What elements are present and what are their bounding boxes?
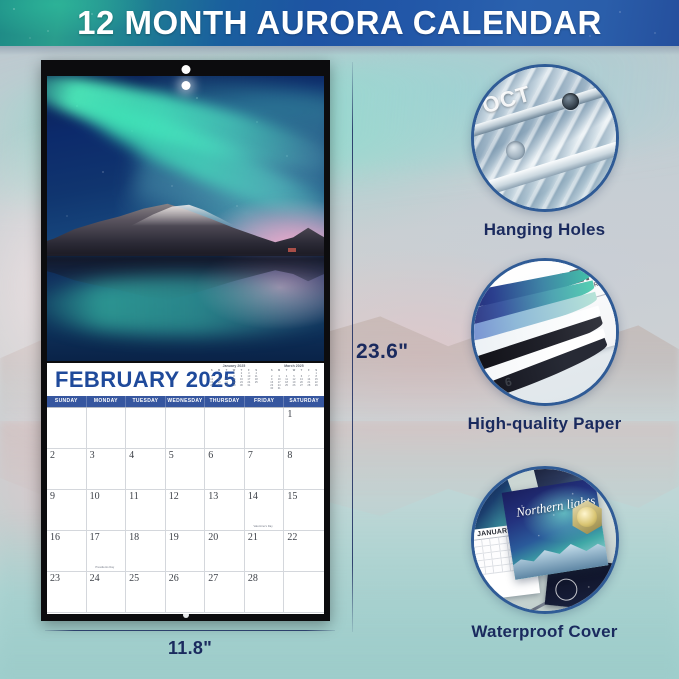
feature-callout-waterproof-cover: JANUARY 2025 Northern lights Waterproof … xyxy=(415,466,674,642)
day-number: 28 xyxy=(248,573,258,584)
calendar-day-cell[interactable]: 8 xyxy=(284,449,324,490)
day-number: 9 xyxy=(50,491,55,502)
day-number: 18 xyxy=(129,532,139,543)
page-title: 12 MONTH AURORA CALENDAR xyxy=(0,0,679,46)
calendar-day-cell[interactable]: 13 xyxy=(205,490,245,531)
calendar-day-cell[interactable]: 3 xyxy=(87,449,127,490)
calendar-day-cell[interactable]: 23 xyxy=(47,572,87,613)
mini-calendar-cell: 31 xyxy=(275,387,282,390)
photo-moon xyxy=(181,81,190,90)
day-number: 11 xyxy=(129,491,139,502)
calendar-day-cell[interactable]: 20 xyxy=(205,531,245,572)
day-number: 17 xyxy=(90,532,100,543)
day-number: 19 xyxy=(169,532,179,543)
punched-hole-dark-icon xyxy=(562,93,579,110)
day-number: 4 xyxy=(129,450,134,461)
weekday-header-monday: MONDAY xyxy=(87,396,127,407)
calendar-day-cell[interactable]: 24 xyxy=(87,572,127,613)
calendar-day-cell[interactable]: 27 xyxy=(205,572,245,613)
feature-image-paper: OCTOBER 2024 TUEWEDTHUFRISAT 6 xyxy=(471,258,619,406)
calendar-day-cell[interactable]: 21 xyxy=(245,531,285,572)
calendar-day-cell[interactable]: 10 xyxy=(87,490,127,531)
width-dimension-line xyxy=(45,630,335,631)
calendar-day-cell[interactable]: 28 xyxy=(245,572,285,613)
day-number: 26 xyxy=(169,573,179,584)
height-dimension-line xyxy=(352,62,353,632)
mini-calendar-cell: 30 xyxy=(268,387,275,390)
mini-calendar-cell xyxy=(298,387,305,390)
mini-calendar-cell: 27 xyxy=(215,384,222,387)
width-dimension-label: 11.8" xyxy=(45,638,335,659)
weekday-header-friday: FRIDAY xyxy=(245,396,285,407)
feature-image-hanging-holes: OCT xyxy=(471,64,619,212)
calendar-day-cell[interactable]: 6 xyxy=(205,449,245,490)
feature-label: Hanging Holes xyxy=(415,220,674,240)
weekday-header-sunday: SUNDAY xyxy=(47,396,87,407)
mini-calendar-cell xyxy=(313,387,320,390)
calendar-day-cell[interactable]: 16 xyxy=(47,531,87,572)
calendar-day-cell[interactable]: 7 xyxy=(245,449,285,490)
day-number: 23 xyxy=(50,573,60,584)
day-number: 12 xyxy=(169,491,179,502)
feature-callout-high-quality-paper: OCTOBER 2024 TUEWEDTHUFRISAT 6 High-qual… xyxy=(415,258,674,434)
calendar-day-cell[interactable]: 4 xyxy=(126,449,166,490)
calendar-day-cell[interactable]: 18 xyxy=(126,531,166,572)
calendar-day-cell[interactable] xyxy=(47,408,87,449)
header-fade-divider xyxy=(0,46,679,55)
mini-calendar-cell: 30 xyxy=(238,384,245,387)
mini-calendar-cell: 28 xyxy=(223,384,230,387)
feature-callout-hanging-holes: OCT Hanging Holes xyxy=(415,64,674,240)
day-number: 7 xyxy=(248,450,253,461)
mini-calendar-cell xyxy=(305,387,312,390)
mini-calendar-grid: SMTWTFS123456789101112131415161718192021… xyxy=(268,369,320,391)
cover-ring-shape xyxy=(555,577,579,601)
calendar-day-cell[interactable]: 22 xyxy=(284,531,324,572)
hanging-hole-icon xyxy=(181,65,190,74)
calendar-day-cell[interactable]: 1 xyxy=(284,408,324,449)
calendar-day-cell[interactable] xyxy=(166,408,206,449)
calendar-day-cell[interactable] xyxy=(284,572,324,613)
day-note: Valentine's Day xyxy=(245,525,282,528)
day-number: 14 xyxy=(248,491,258,502)
day-number: 6 xyxy=(208,450,213,461)
calendar-product: FEBRUARY 2025 January 2025SMTWTFS1234567… xyxy=(41,60,330,621)
calendar-day-cell[interactable]: 19 xyxy=(166,531,206,572)
calendar-day-cell[interactable]: 15 xyxy=(284,490,324,531)
calendar-day-cell[interactable]: 14Valentine's Day xyxy=(245,490,285,531)
mini-calendar-grid: SMTWTFS123456789101112131415161718192021… xyxy=(208,369,260,388)
punched-hole-light-icon xyxy=(506,141,525,160)
calendar-day-cell[interactable]: 17Presidents Day xyxy=(87,531,127,572)
calendar-photo xyxy=(47,76,324,361)
calendar-day-cell[interactable] xyxy=(126,408,166,449)
day-number: 1 xyxy=(287,409,292,420)
mini-calendar-cell xyxy=(253,384,260,387)
feature-label: High-quality Paper xyxy=(415,414,674,434)
weekday-header-wednesday: WEDNESDAY xyxy=(166,396,206,407)
day-number: 16 xyxy=(50,532,60,543)
weekday-header-tuesday: TUESDAY xyxy=(126,396,166,407)
day-number: 8 xyxy=(287,450,292,461)
calendar-day-cell[interactable] xyxy=(245,408,285,449)
calendar-grid-panel: FEBRUARY 2025 January 2025SMTWTFS1234567… xyxy=(47,363,324,614)
mini-calendar-cell xyxy=(290,387,297,390)
mini-calendar-cell: 29 xyxy=(230,384,237,387)
day-number: 10 xyxy=(90,491,100,502)
feature-image-cover: JANUARY 2025 Northern lights xyxy=(471,466,619,614)
photo-aurora-reflection xyxy=(47,276,324,336)
day-grid: 1234567891011121314Valentine's Day151617… xyxy=(47,407,324,613)
day-number: 21 xyxy=(248,532,258,543)
calendar-day-cell[interactable]: 11 xyxy=(126,490,166,531)
mini-calendar-cell xyxy=(283,387,290,390)
day-number: 24 xyxy=(90,573,100,584)
mini-calendars: January 2025SMTWTFS123456789101112131415… xyxy=(208,365,320,390)
day-number: 3 xyxy=(90,450,95,461)
calendar-day-cell[interactable]: 26 xyxy=(166,572,206,613)
calendar-day-cell[interactable]: 9 xyxy=(47,490,87,531)
calendar-day-cell[interactable]: 25 xyxy=(126,572,166,613)
mini-calendar: March 2025SMTWTFS12345678910111213141516… xyxy=(268,365,320,390)
day-number: 5 xyxy=(169,450,174,461)
day-number: 27 xyxy=(208,573,218,584)
day-number: 25 xyxy=(129,573,139,584)
feature-label: Waterproof Cover xyxy=(415,622,674,642)
mini-calendar-cell: 26 xyxy=(208,384,215,387)
weekday-header-saturday: SATURDAY xyxy=(284,396,324,407)
calendar-day-cell[interactable]: 12 xyxy=(166,490,206,531)
month-header-row: FEBRUARY 2025 January 2025SMTWTFS1234567… xyxy=(47,363,324,396)
calendar-day-cell[interactable] xyxy=(87,408,127,449)
day-number: 20 xyxy=(208,532,218,543)
mini-calendar: January 2025SMTWTFS123456789101112131415… xyxy=(208,365,260,390)
calendar-day-cell[interactable]: 5 xyxy=(166,449,206,490)
weekday-header-row: SUNDAYMONDAYTUESDAYWEDNESDAYTHURSDAYFRID… xyxy=(47,396,324,407)
height-dimension-label: 23.6" xyxy=(356,340,408,364)
day-number: 2 xyxy=(50,450,55,461)
weekday-header-thursday: THURSDAY xyxy=(205,396,245,407)
day-note: Presidents Day xyxy=(87,566,124,569)
header-banner: 12 MONTH AURORA CALENDAR xyxy=(0,0,679,46)
mini-calendar-cell: 31 xyxy=(245,384,252,387)
calendar-day-cell[interactable] xyxy=(205,408,245,449)
calendar-day-cell[interactable]: 2 xyxy=(47,449,87,490)
day-number: 15 xyxy=(287,491,297,502)
day-number: 13 xyxy=(208,491,218,502)
day-number: 22 xyxy=(287,532,297,543)
product-marketing-image: 12 MONTH AURORA CALENDAR FEBRUARY 2025 xyxy=(0,0,679,679)
